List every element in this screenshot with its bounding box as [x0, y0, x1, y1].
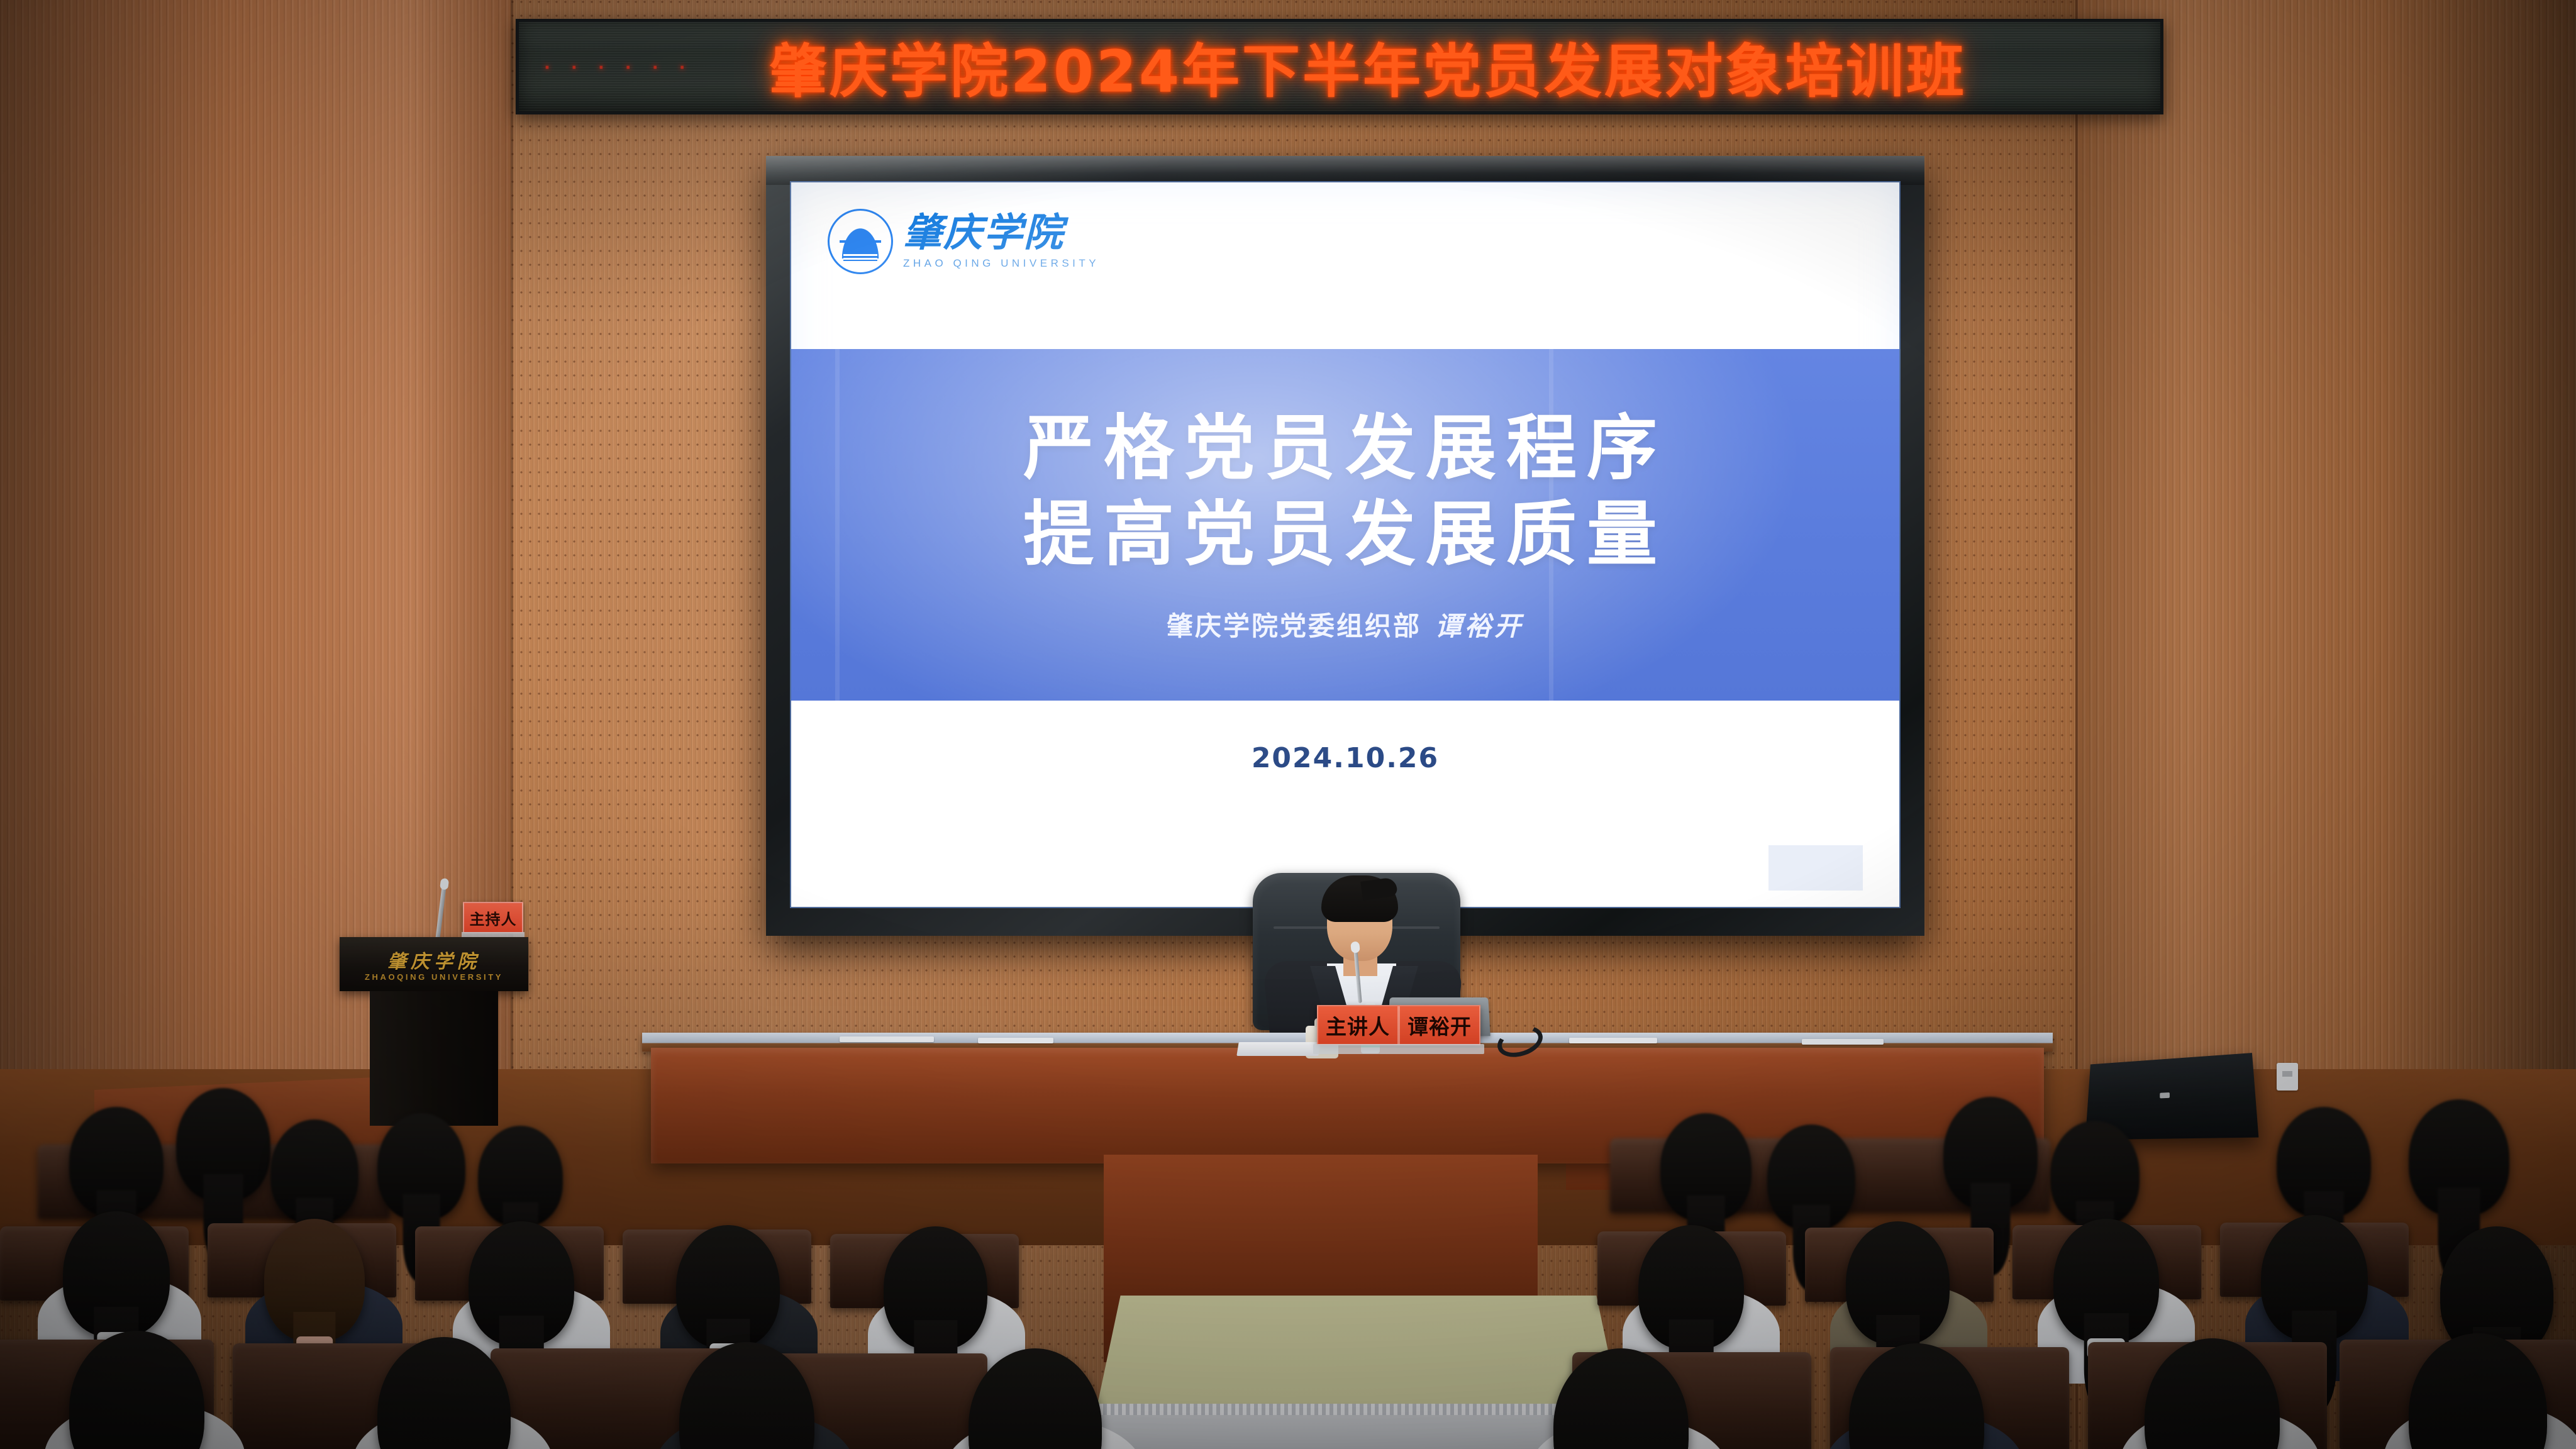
audience-head	[176, 1088, 270, 1201]
host-placard: 主持人	[463, 902, 523, 933]
slide-corner-block	[1768, 845, 1863, 891]
audience-head	[69, 1107, 164, 1217]
audience-head	[2277, 1107, 2371, 1218]
slide-presenter-name: 谭裕开	[1435, 611, 1524, 641]
table-document	[840, 1036, 934, 1042]
audience-head	[1943, 1097, 2038, 1210]
audience-head	[2053, 1219, 2159, 1343]
headset-icon	[1494, 1021, 1547, 1063]
nameplate-role: 主讲人	[1326, 1010, 1390, 1040]
audience-head	[1767, 1124, 1855, 1230]
audience-head	[469, 1221, 574, 1346]
host-placard-label: 主持人	[470, 907, 517, 929]
led-banner: · · · · · · 肇庆学院2024年下半年党员发展对象培训班	[516, 19, 2163, 114]
table-document	[1569, 1038, 1657, 1043]
table-document	[978, 1038, 1053, 1043]
audience-head	[63, 1211, 170, 1337]
speaker-nameplate: 主讲人 谭裕开	[1317, 1005, 1480, 1045]
audience-head	[264, 1219, 365, 1341]
logo-text-cn: 肇庆学院	[903, 213, 1099, 252]
audience-head	[377, 1113, 465, 1220]
projection-screen-frame: 肇庆学院 ZHAO QING UNIVERSITY 严格党员发展程序 提高党员发…	[766, 156, 1924, 936]
slide-presenter-org: 肇庆学院党委组织部	[1167, 611, 1421, 641]
nameplate-name: 谭裕开	[1407, 1010, 1472, 1040]
university-logo: 肇庆学院 ZHAO QING UNIVERSITY	[828, 209, 1099, 274]
slide-presenter-line: 肇庆学院党委组织部谭裕开	[1167, 605, 1524, 643]
audience-head	[1846, 1221, 1950, 1345]
slide-title-line-1: 严格党员发展程序	[1023, 406, 1667, 492]
slide-title-band: 严格党员发展程序 提高党员发展质量 肇庆学院党委组织部谭裕开	[791, 349, 1899, 701]
nameplate-role-cell: 主讲人	[1317, 1005, 1399, 1045]
nameplate-name-cell: 谭裕开	[1399, 1005, 1480, 1045]
audience-head	[2409, 1099, 2509, 1216]
audience-head	[884, 1226, 987, 1350]
slide-title-line-2: 提高党员发展质量	[1023, 492, 1667, 578]
speaker-hair	[1321, 875, 1398, 922]
podium-logo-cn: 肇庆学院	[340, 946, 528, 974]
podium-top: 肇庆学院 ZHAOQING UNIVERSITY	[340, 937, 528, 991]
table-document	[1802, 1039, 1884, 1045]
projection-screen: 肇庆学院 ZHAO QING UNIVERSITY 严格党员发展程序 提高党员发…	[791, 182, 1899, 907]
audience-head	[270, 1119, 358, 1223]
slide-header: 肇庆学院 ZHAO QING UNIVERSITY	[791, 182, 1899, 349]
audience-head	[1660, 1113, 1752, 1221]
audience-head	[1638, 1225, 1744, 1350]
podium-logo-en: ZHAOQING UNIVERSITY	[340, 972, 528, 982]
wall-panel-right	[2075, 0, 2576, 1069]
lecture-hall-photo: · · · · · · 肇庆学院2024年下半年党员发展对象培训班 肇庆学院 Z…	[0, 0, 2576, 1449]
audience-head	[676, 1225, 780, 1348]
slide-date: 2024.10.26	[1252, 742, 1439, 774]
logo-text-en: ZHAO QING UNIVERSITY	[903, 257, 1099, 270]
audience-head	[2050, 1121, 2140, 1226]
led-banner-text: 肇庆学院2024年下半年党员发展对象培训班	[519, 25, 2160, 109]
audience-head	[2261, 1215, 2368, 1341]
notebook-icon	[1236, 1042, 1320, 1056]
university-seal-icon	[828, 209, 893, 274]
audience-area	[0, 1069, 2576, 1449]
audience-head	[478, 1126, 563, 1226]
